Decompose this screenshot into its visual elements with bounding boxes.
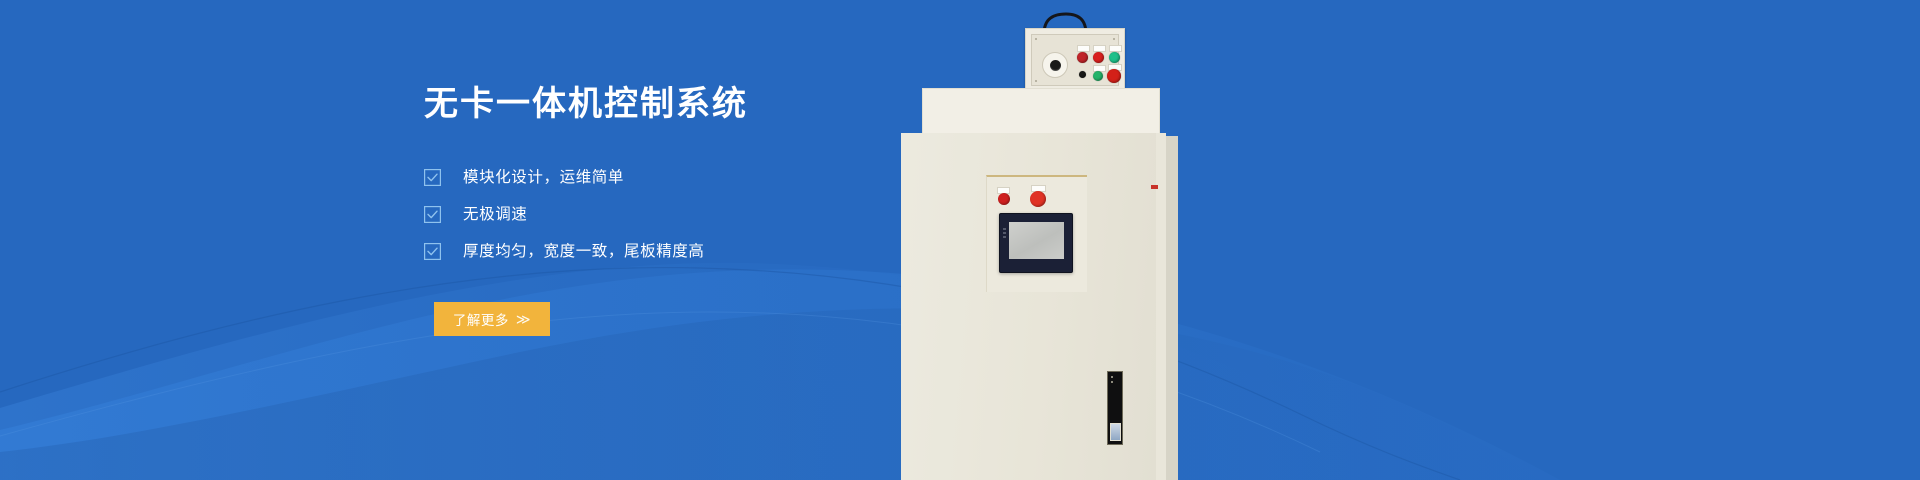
feature-label: 模块化设计，运维简单 <box>463 170 624 186</box>
chevron-right-double-icon: ≫ <box>516 311 531 328</box>
feature-label: 无极调速 <box>463 207 527 223</box>
learn-more-label: 了解更多 <box>453 309 509 329</box>
cabinet-front-face <box>901 133 1156 480</box>
checkbox-check-icon <box>424 206 441 223</box>
checkbox-check-icon <box>424 243 441 260</box>
indicator-button-red-2[interactable] <box>1093 52 1104 63</box>
button-label-tag <box>1109 45 1122 52</box>
cabinet-button-red-large[interactable] <box>1030 191 1046 207</box>
panel-screw-icon <box>1035 80 1037 82</box>
hero-banner: 无卡一体机控制系统 模块化设计，运维简单 无极调速 <box>0 0 1920 480</box>
slot-indicator-dots-icon <box>1111 376 1113 386</box>
slot-label-sticker <box>1110 423 1121 441</box>
hmi-screen-surface[interactable] <box>1009 222 1064 259</box>
panel-screw-icon <box>1035 38 1037 40</box>
feature-label: 厚度均匀，宽度一致，尾板精度高 <box>463 244 705 260</box>
cabinet-side-panel <box>1166 136 1178 480</box>
hmi-function-keys[interactable] <box>1003 228 1006 244</box>
indicator-button-red-1[interactable] <box>1077 52 1088 63</box>
control-cabinet-photo <box>900 0 1200 480</box>
cabinet-red-marker-icon <box>1151 185 1158 189</box>
indicator-button-green-2[interactable] <box>1093 71 1103 81</box>
indicator-button-green-1[interactable] <box>1109 52 1120 63</box>
button-label-tag <box>1093 45 1106 52</box>
emergency-stop-button[interactable] <box>1107 69 1121 83</box>
cabinet-button-red-small[interactable] <box>998 193 1010 205</box>
top-control-panel <box>1025 28 1125 92</box>
cabinet-body <box>901 133 1166 480</box>
cabinet-vertical-slot <box>1107 371 1123 445</box>
button-label-tag <box>1077 45 1090 52</box>
panel-screw-icon <box>1113 38 1115 40</box>
hmi-touchscreen[interactable] <box>999 213 1073 273</box>
cabinet-riser-block <box>922 88 1160 136</box>
rotary-selector-knob[interactable] <box>1042 52 1068 78</box>
learn-more-button[interactable]: 了解更多 ≫ <box>434 302 550 336</box>
indicator-button-black[interactable] <box>1079 71 1086 78</box>
control-panel-plate <box>1031 34 1119 86</box>
checkbox-check-icon <box>424 169 441 186</box>
